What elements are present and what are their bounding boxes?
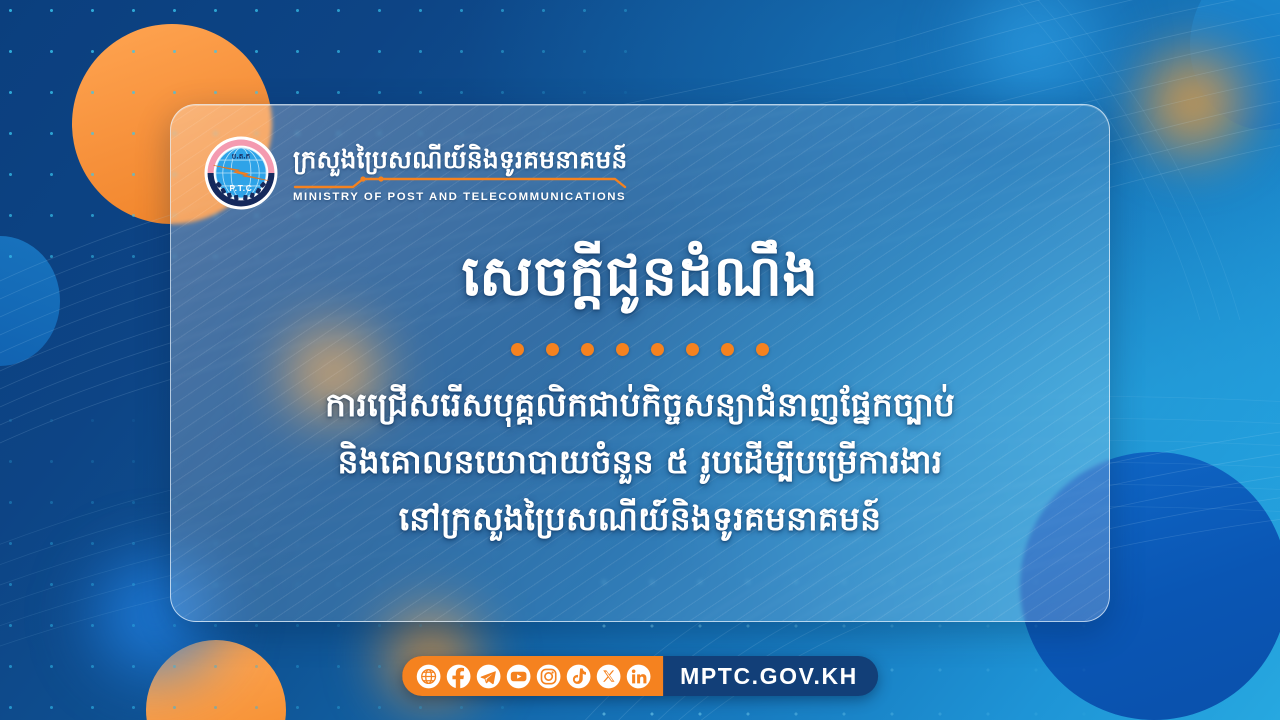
brand-text-block: ក្រសួងប្រៃសណីយ៍និងទូរគមនាគមន៍ MINISTRY O… <box>293 143 627 203</box>
separator-dot <box>616 343 629 356</box>
decorative-orange-glow-right <box>1128 38 1258 168</box>
social-icon-strip <box>402 656 663 696</box>
facebook-icon[interactable] <box>446 664 471 689</box>
separator-dot <box>721 343 734 356</box>
website-url-label[interactable]: MPTC.GOV.KH <box>663 663 878 690</box>
telegram-icon[interactable] <box>476 664 501 689</box>
ministry-name-english: MINISTRY OF POST AND TELECOMMUNICATIONS <box>293 191 627 203</box>
decorative-orange-circle-bottom-left <box>146 640 286 720</box>
brand-divider-line <box>293 176 627 189</box>
ministry-brand-lockup: ប.ត.ក P.T.C ក្រសួងប្រៃសណីយ៍និងទូរគមនាគមន… <box>203 135 627 211</box>
separator-dot <box>581 343 594 356</box>
separator-dot <box>546 343 559 356</box>
website-icon[interactable] <box>416 664 441 689</box>
announcement-card: ប.ត.ក P.T.C ក្រសួងប្រៃសណីយ៍និងទូរគមនាគមន… <box>170 104 1110 622</box>
body-line-3: នៅក្រសួងប្រៃសណីយ៍និងទូរគមនាគមន៍ <box>197 491 1083 548</box>
dot-separator <box>171 343 1109 356</box>
instagram-icon[interactable] <box>536 664 561 689</box>
separator-dot <box>651 343 664 356</box>
tiktok-icon[interactable] <box>566 664 591 689</box>
separator-dot <box>756 343 769 356</box>
footer-social-bar: MPTC.GOV.KH <box>402 656 878 696</box>
linkedin-icon[interactable] <box>626 664 651 689</box>
decorative-blue-circle-top-right <box>1190 0 1280 130</box>
youtube-icon[interactable] <box>506 664 531 689</box>
poster-canvas: ប.ត.ក P.T.C ក្រសួងប្រៃសណីយ៍និងទូរគមនាគមន… <box>0 0 1280 720</box>
x-twitter-icon[interactable] <box>596 664 621 689</box>
emblem-khmer-abbr: ប.ត.ក <box>232 153 251 161</box>
decorative-blue-circle-left <box>0 236 60 366</box>
body-line-1: ការជ្រើសរើសបុគ្គលិកជាប់កិច្ចសន្យាជំនាញផ្… <box>197 377 1083 434</box>
ministry-name-khmer: ក្រសួងប្រៃសណីយ៍និងទូរគមនាគមន៍ <box>293 145 627 175</box>
body-line-2: និងគោលនយោបាយចំនួន ៥ រូបដើម្បីបម្រើការងារ <box>197 434 1083 491</box>
emblem-ptc-label: P.T.C <box>229 183 252 193</box>
announcement-headline: សេចក្តីជូនដំណឹង <box>171 241 1109 313</box>
ministry-emblem-logo: ប.ត.ក P.T.C <box>203 135 279 211</box>
announcement-body: ការជ្រើសរើសបុគ្គលិកជាប់កិច្ចសន្យាជំនាញផ្… <box>197 377 1083 547</box>
separator-dot <box>511 343 524 356</box>
separator-dot <box>686 343 699 356</box>
